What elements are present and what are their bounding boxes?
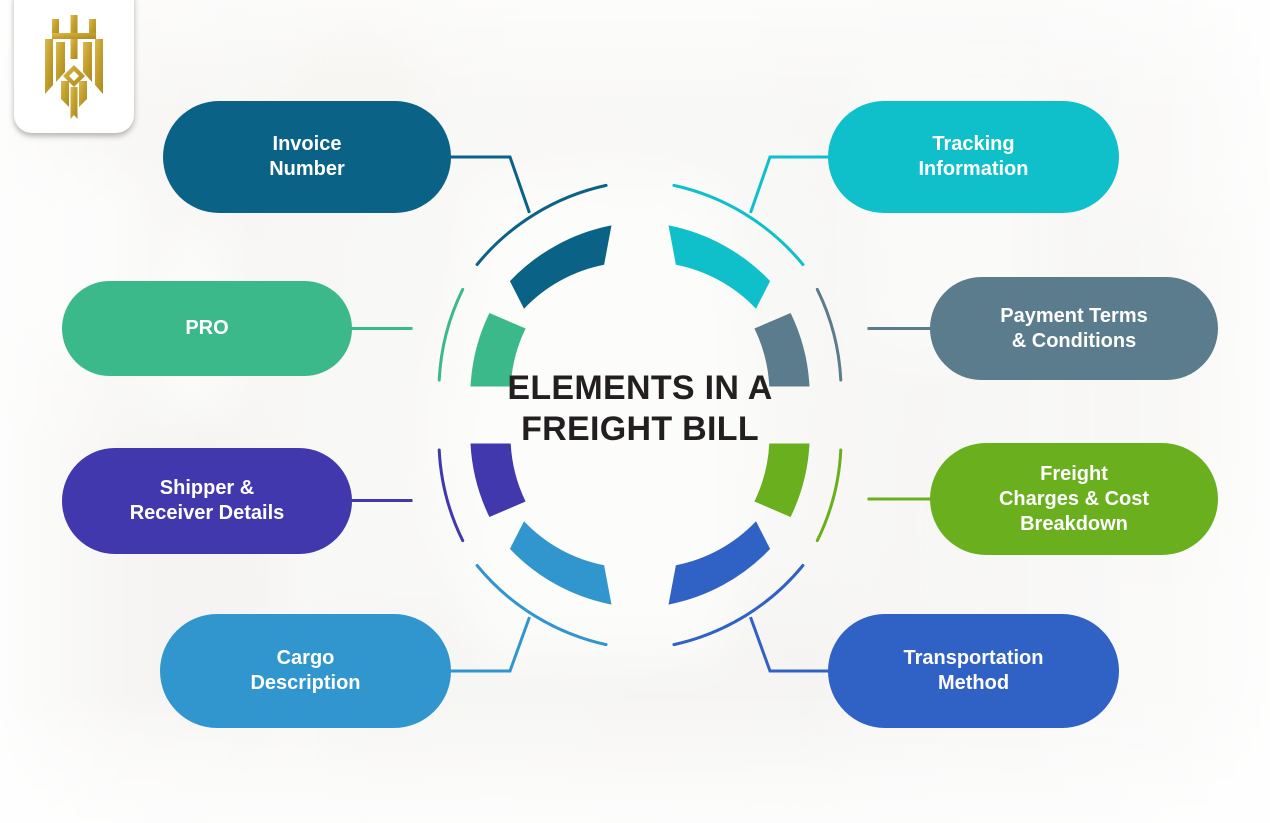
outer-arc-payment-terms — [817, 289, 841, 380]
outer-arc-freight-charges — [817, 450, 841, 541]
connector-invoice-number — [452, 157, 529, 212]
pill-pro[interactable]: PRO — [62, 281, 352, 376]
ring-segment-invoice-number — [510, 225, 612, 308]
infographic-canvas: ELEMENTS IN A FREIGHT BILL Invoice Numbe… — [0, 0, 1270, 823]
outer-arc-pro — [439, 289, 463, 380]
pill-cargo-description-label: Cargo Description — [250, 646, 360, 696]
pill-tracking-information[interactable]: Tracking Information — [828, 101, 1119, 213]
outer-arc-shipper-receiver — [439, 450, 463, 541]
pill-transportation-method[interactable]: Transportation Method — [828, 614, 1119, 728]
pill-shipper-receiver-label: Shipper & Receiver Details — [130, 476, 285, 526]
pill-payment-terms[interactable]: Payment Terms & Conditions — [930, 277, 1218, 380]
pill-tracking-information-label: Tracking Information — [919, 132, 1029, 182]
ring-segment-pro — [471, 313, 526, 387]
pill-freight-charges-label: Freight Charges & Cost Breakdown — [999, 462, 1149, 537]
pill-transportation-method-label: Transportation Method — [903, 646, 1043, 696]
pill-payment-terms-label: Payment Terms & Conditions — [1000, 304, 1147, 354]
pill-pro-label: PRO — [185, 316, 228, 341]
pill-cargo-description[interactable]: Cargo Description — [160, 614, 451, 728]
ring-segment-freight-charges — [754, 444, 809, 518]
ring-segment-payment-terms — [754, 313, 809, 387]
pill-shipper-receiver[interactable]: Shipper & Receiver Details — [62, 448, 352, 554]
connector-tracking-information — [751, 157, 828, 212]
pill-freight-charges[interactable]: Freight Charges & Cost Breakdown — [930, 443, 1218, 555]
ring-segment-shipper-receiver — [471, 444, 526, 518]
ring-segment-transportation-method — [669, 521, 771, 604]
ring-segment-tracking-information — [669, 225, 771, 308]
connector-cargo-description — [452, 619, 529, 672]
pill-invoice-number-label: Invoice Number — [269, 132, 345, 182]
pill-invoice-number[interactable]: Invoice Number — [163, 101, 451, 213]
ring-segment-cargo-description — [510, 521, 612, 604]
connector-transportation-method — [751, 619, 828, 672]
